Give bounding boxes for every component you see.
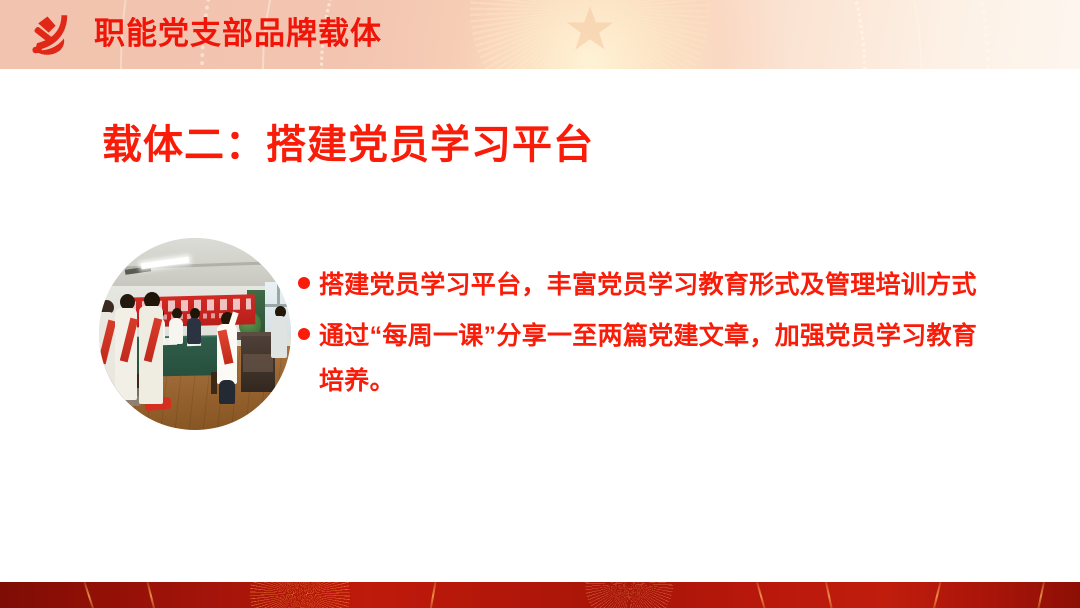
firework-burst-icon xyxy=(250,582,350,608)
slide-title: 载体二：搭建党员学习平台 xyxy=(102,119,594,171)
list-item: 搭建党员学习平台，丰富党员学习教育形式及管理培训方式 xyxy=(298,263,998,308)
list-item: 通过“每周一课”分享一至两篇党建文章，加强党员学习教育培养。 xyxy=(298,314,998,404)
bullet-text: 通过“每周一课”分享一至两篇党建文章，加强党员学习教育培养。 xyxy=(319,314,998,404)
bullet-dot-icon xyxy=(298,328,310,340)
five-pointed-star-icon xyxy=(563,2,617,56)
light-streak xyxy=(1036,582,1046,608)
presentation-slide: 职能党支部品牌载体 载体二：搭建党员学习平台 xyxy=(0,0,1080,608)
header-banner: 职能党支部品牌载体 xyxy=(0,0,1080,69)
activity-photo xyxy=(99,238,291,430)
light-streak xyxy=(82,582,96,608)
light-streak xyxy=(429,582,438,608)
light-streak xyxy=(931,582,943,608)
footer-decoration-bar xyxy=(0,582,1080,608)
bullet-dot-icon xyxy=(298,277,310,289)
hammer-sickle-emblem-icon xyxy=(22,6,80,64)
bullet-list: 搭建党员学习平台，丰富党员学习教育形式及管理培训方式 通过“每周一课”分享一至两… xyxy=(298,263,998,410)
header-title: 职能党支部品牌载体 xyxy=(94,11,382,57)
light-streak xyxy=(824,582,834,608)
light-streak xyxy=(145,582,157,608)
light-streak xyxy=(755,582,768,608)
bullet-text: 搭建党员学习平台，丰富党员学习教育形式及管理培训方式 xyxy=(319,263,998,308)
firework-burst-icon xyxy=(585,582,673,608)
